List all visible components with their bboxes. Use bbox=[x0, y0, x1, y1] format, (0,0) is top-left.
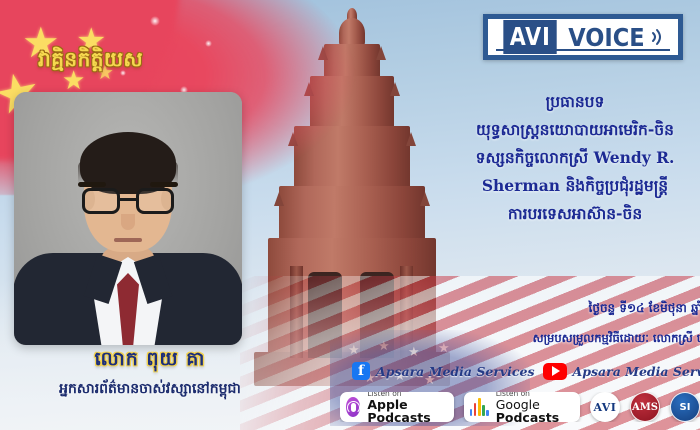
headline-block: ប្រធានបទ យុទ្ធសាស្ត្រនយោបាយអាមេរិក-ចិន ទ… bbox=[430, 88, 700, 228]
partner-badge[interactable]: SI bbox=[670, 392, 700, 422]
google-podcasts-button[interactable]: Listen on Google Podcasts bbox=[464, 392, 580, 422]
speaker-portrait bbox=[14, 92, 242, 345]
apple-podcasts-icon bbox=[346, 397, 360, 417]
broadcast-date: ថ្ងៃចន្ទ ទី១៤ ខែមិថុនា ឆ្នាំ២០ bbox=[430, 300, 700, 318]
logo-underline bbox=[496, 49, 670, 51]
poster-canvas: ★ ★ ★ ★ ★ ★ ★ ★ ★ ★ ★ ★ ★ ★ ★ AVI VOICE bbox=[0, 0, 700, 430]
podcast-badges-row: Listen on Apple Podcasts Listen on Googl… bbox=[340, 392, 700, 422]
google-podcasts-icon bbox=[470, 398, 489, 416]
social-links-row: f Apsara Media Services Apsara Media Ser… bbox=[352, 362, 700, 380]
youtube-link[interactable]: Apsara Media Serv bbox=[543, 363, 700, 380]
sparkle-icon bbox=[205, 40, 212, 47]
youtube-label: Apsara Media Serv bbox=[573, 364, 700, 379]
youtube-icon bbox=[543, 363, 567, 380]
headline-line-3: ទស្សនកិច្ចលោកស្រី Wendy R. bbox=[430, 144, 700, 172]
headline-line-2: យុទ្ធសាស្ត្រនយោបាយអាមេរិក-ចិន bbox=[430, 116, 700, 144]
apple-podcasts-label: Apple Podcasts bbox=[367, 398, 444, 422]
eyeglasses-icon bbox=[82, 188, 174, 214]
apple-podcasts-button[interactable]: Listen on Apple Podcasts bbox=[340, 392, 454, 422]
speaker-name: លោក ពុយ គា bbox=[0, 347, 300, 375]
headline-line-4: Sherman និងកិច្ចប្រជុំរដ្ឋមន្ត្រី bbox=[430, 172, 700, 200]
partner-badge-label: SI bbox=[680, 402, 691, 413]
kicker-label: វាគ្មិនកិត្តិយស bbox=[38, 46, 143, 76]
ams-badge[interactable]: AMS bbox=[630, 392, 660, 422]
avi-voice-logo[interactable]: AVI VOICE bbox=[483, 14, 683, 60]
sound-wave-icon bbox=[651, 27, 665, 47]
google-podcasts-label: Google Podcasts bbox=[496, 398, 571, 422]
host-credit: សម្របសម្រួលកម្មវិធីដោយៈ លោកស្រី ហ៊ីម ស bbox=[430, 331, 700, 348]
facebook-link[interactable]: f Apsara Media Services bbox=[352, 362, 535, 380]
logo-voice-text: VOICE bbox=[568, 23, 644, 52]
avi-badge[interactable]: AVI bbox=[590, 392, 620, 422]
speaker-nameplate: លោក ពុយ គា អ្នកសារព័ត៌មានចាស់វស្សានៅកម្ព… bbox=[0, 347, 300, 400]
facebook-icon: f bbox=[352, 362, 370, 380]
speaker-role: អ្នកសារព័ត៌មានចាស់វស្សានៅកម្ពុជា bbox=[0, 379, 300, 400]
headline-line-1: ប្រធានបទ bbox=[430, 88, 700, 116]
facebook-label: Apsara Media Services bbox=[376, 364, 535, 379]
ams-badge-label: AMS bbox=[632, 402, 658, 413]
headline-line-5: ការបរទេសអាស៊ាន-ចិន bbox=[430, 200, 700, 228]
avi-badge-label: AVI bbox=[594, 401, 617, 414]
sparkle-icon bbox=[150, 16, 160, 26]
